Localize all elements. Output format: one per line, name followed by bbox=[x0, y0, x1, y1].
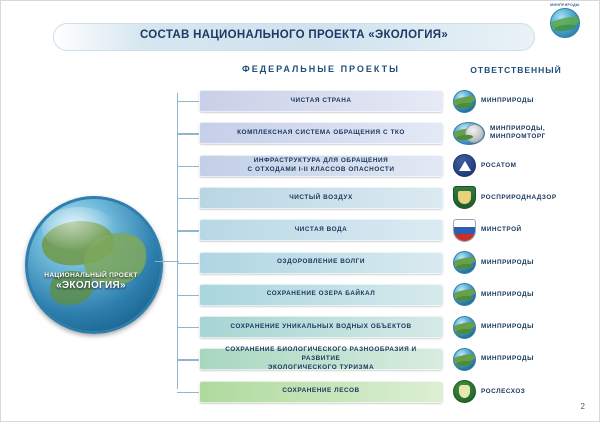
responsible-label: МИНПРИРОДЫ,МИНПРОМТОРГ bbox=[490, 125, 546, 141]
national-project-node: НАЦИОНАЛЬНЫЙ ПРОЕКТ «ЭКОЛОГИЯ» bbox=[25, 196, 157, 328]
responsible-label: МИНСТРОЙ bbox=[481, 226, 522, 234]
connector-branch bbox=[177, 295, 199, 296]
federal-project-label: ЧИСТАЯ ВОДА bbox=[289, 226, 354, 235]
minprirody-globe-icon bbox=[453, 251, 476, 274]
responsible-row: МИНПРИРОДЫ bbox=[453, 283, 534, 307]
federal-project-row[interactable]: ЧИСТАЯ СТРАНА bbox=[199, 90, 443, 112]
rosatom-icon bbox=[453, 154, 476, 177]
national-project-line2: «ЭКОЛОГИЯ» bbox=[27, 280, 155, 291]
responsible-row: РОСЛЕСХОЗ bbox=[453, 380, 525, 404]
responsible-label: МИНПРИРОДЫ bbox=[481, 355, 534, 363]
connector-branch bbox=[177, 359, 199, 360]
ministry-logo-caption: МИНПРИРОДЫ bbox=[539, 3, 591, 7]
minprirody-globe-icon bbox=[453, 316, 476, 339]
connector-branch bbox=[177, 230, 199, 231]
national-project-line1: НАЦИОНАЛЬНЫЙ ПРОЕКТ bbox=[27, 272, 155, 279]
national-project-label: НАЦИОНАЛЬНЫЙ ПРОЕКТ «ЭКОЛОГИЯ» bbox=[27, 272, 155, 291]
responsible-row: РОСПРИРОДНАДЗОР bbox=[453, 186, 557, 210]
federal-project-label: СОХРАНЕНИЕ ОЗЕРА БАЙКАЛ bbox=[261, 290, 382, 299]
federal-project-label: ОЗДОРОВЛЕНИЕ ВОЛГИ bbox=[271, 258, 371, 267]
connector-branch bbox=[177, 263, 199, 264]
rosleshoz-icon bbox=[453, 380, 476, 403]
connector-stem bbox=[155, 261, 179, 262]
responsible-label: РОСПРИРОДНАДЗОР bbox=[481, 194, 557, 202]
federal-project-row[interactable]: СОХРАНЕНИЕ ОЗЕРА БАЙКАЛ bbox=[199, 284, 443, 306]
connector-branch bbox=[177, 327, 199, 328]
federal-project-label: СОХРАНЕНИЕ УНИКАЛЬНЫХ ВОДНЫХ ОБЪЕКТОВ bbox=[224, 323, 417, 332]
connector-branch bbox=[177, 392, 199, 393]
responsible-row: МИНПРИРОДЫ bbox=[453, 251, 534, 275]
responsible-label: РОСАТОМ bbox=[481, 162, 516, 170]
connector-vertical bbox=[177, 93, 178, 389]
federal-project-label: КОМПЛЕКСНАЯ СИСТЕМА ОБРАЩЕНИЯ С ТКО bbox=[231, 129, 411, 138]
minpromtorg-icon bbox=[465, 124, 484, 143]
federal-project-row[interactable]: СОХРАНЕНИЕ ЛЕСОВ bbox=[199, 381, 443, 403]
responsible-row: МИНПРИРОДЫ bbox=[453, 315, 534, 339]
federal-project-label: ИНФРАСТРУКТУРА ДЛЯ ОБРАЩЕНИЯС ОТХОДАМИ I… bbox=[242, 157, 401, 174]
globe-highlight bbox=[42, 207, 116, 251]
federal-project-label: ЧИСТАЯ СТРАНА bbox=[284, 97, 357, 106]
responsible-row: МИНПРИРОДЫ,МИНПРОМТОРГ bbox=[453, 121, 546, 145]
minprirody-minpromtorg-icon bbox=[453, 122, 485, 145]
federal-project-row[interactable]: КОМПЛЕКСНАЯ СИСТЕМА ОБРАЩЕНИЯ С ТКО bbox=[199, 122, 443, 144]
connector-branch bbox=[177, 133, 199, 134]
federal-project-row[interactable]: ЧИСТЫЙ ВОЗДУХ bbox=[199, 187, 443, 209]
minprirody-globe-icon bbox=[453, 90, 476, 113]
federal-project-label: СОХРАНЕНИЕ ЛЕСОВ bbox=[276, 387, 365, 396]
federal-project-row[interactable]: СОХРАНЕНИЕ БИОЛОГИЧЕСКОГО РАЗНООБРАЗИЯ И… bbox=[199, 348, 443, 370]
responsible-label: МИНПРИРОДЫ bbox=[481, 291, 534, 299]
responsible-label: МИНПРИРОДЫ bbox=[481, 259, 534, 267]
minprirody-globe-icon bbox=[453, 283, 476, 306]
responsible-row: МИНПРИРОДЫ bbox=[453, 347, 534, 371]
federal-project-row[interactable]: СОХРАНЕНИЕ УНИКАЛЬНЫХ ВОДНЫХ ОБЪЕКТОВ bbox=[199, 316, 443, 338]
federal-project-row[interactable]: ОЗДОРОВЛЕНИЕ ВОЛГИ bbox=[199, 252, 443, 274]
minprirody-globe-icon bbox=[453, 348, 476, 371]
federal-project-label: СОХРАНЕНИЕ БИОЛОГИЧЕСКОГО РАЗНООБРАЗИЯ И… bbox=[200, 346, 442, 372]
responsible-label: МИНПРИРОДЫ bbox=[481, 97, 534, 105]
responsible-row: МИНСТРОЙ bbox=[453, 218, 522, 242]
page-title: СОСТАВ НАЦИОНАЛЬНОГО ПРОЕКТА «ЭКОЛОГИЯ» bbox=[53, 29, 535, 41]
minstroy-icon bbox=[453, 219, 476, 242]
connector-branch bbox=[177, 198, 199, 199]
page-number: 2 bbox=[581, 402, 585, 411]
responsible-row: МИНПРИРОДЫ bbox=[453, 89, 534, 113]
globe-icon bbox=[550, 8, 580, 38]
federal-project-row[interactable]: ЧИСТАЯ ВОДА bbox=[199, 219, 443, 241]
ministry-logo: МИНПРИРОДЫ bbox=[539, 3, 591, 38]
federal-project-label: ЧИСТЫЙ ВОЗДУХ bbox=[283, 194, 359, 203]
responsible-row: РОСАТОМ bbox=[453, 154, 516, 178]
slide-canvas: СОСТАВ НАЦИОНАЛЬНОГО ПРОЕКТА «ЭКОЛОГИЯ» … bbox=[0, 0, 600, 422]
connector-branch bbox=[177, 101, 199, 102]
responsible-label: РОСЛЕСХОЗ bbox=[481, 388, 525, 396]
federal-project-row[interactable]: ИНФРАСТРУКТУРА ДЛЯ ОБРАЩЕНИЯС ОТХОДАМИ I… bbox=[199, 155, 443, 177]
earth-globe-icon bbox=[25, 196, 163, 334]
column-header-federal: ФЕДЕРАЛЬНЫЕ ПРОЕКТЫ bbox=[201, 64, 441, 74]
rosprirodnadzor-icon bbox=[453, 186, 476, 209]
responsible-label: МИНПРИРОДЫ bbox=[481, 323, 534, 331]
connector-branch bbox=[177, 166, 199, 167]
column-header-responsible: ОТВЕТСТВЕННЫЙ bbox=[453, 65, 579, 75]
